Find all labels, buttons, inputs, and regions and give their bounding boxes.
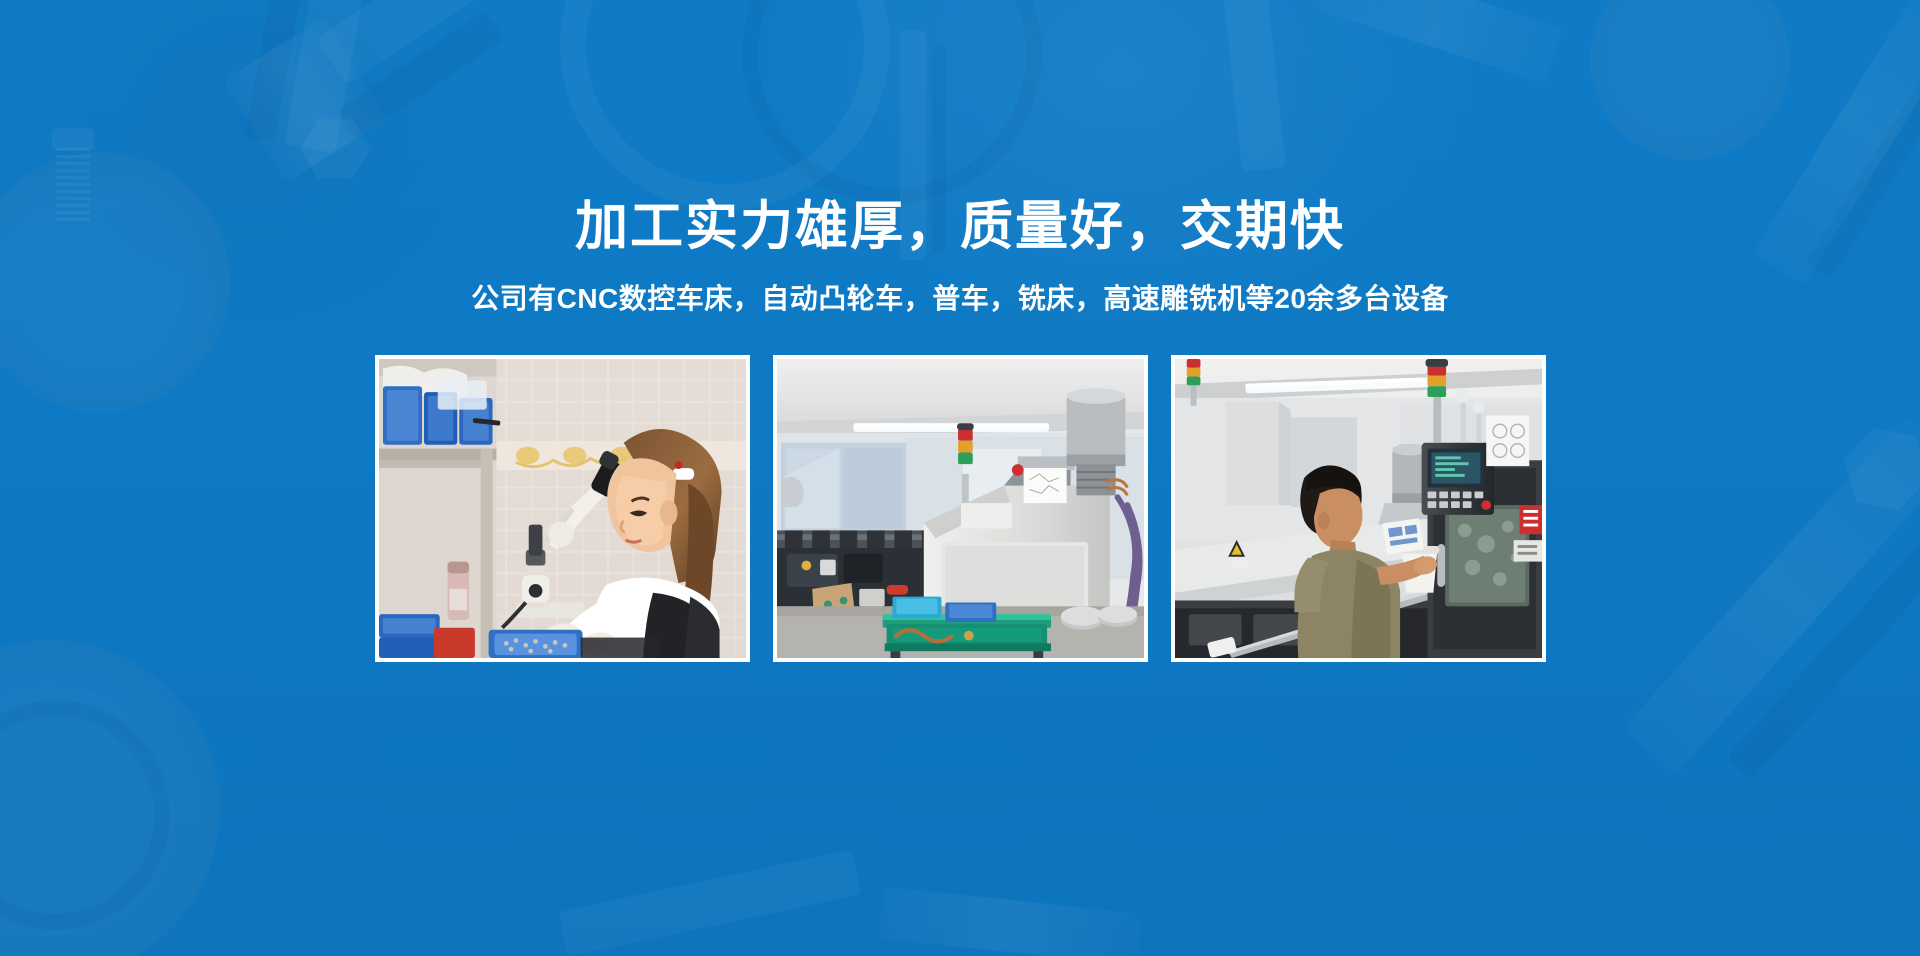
banner-subtitle: 公司有CNC数控车床，自动凸轮车，普车，铣床，高速雕铣机等20余多台设备 (0, 281, 1920, 317)
watermark-tube-upper (222, 17, 387, 182)
photo-3-artwork (1175, 359, 1542, 658)
promo-banner: 加工实力雄厚，质量好，交期快 公司有CNC数控车床，自动凸轮车，普车，铣床，高速… (0, 0, 1920, 956)
gallery-photo-machine-operator[interactable]: 机床操作 (1171, 355, 1546, 662)
watermark-tube-bottom-mid (878, 887, 1142, 956)
watermark-bar-bottom-mid (558, 849, 861, 956)
photo-gallery: 显微镜检验 (0, 355, 1920, 662)
gallery-photo-cnc-machine[interactable]: CNC数控加工中心 (773, 355, 1148, 662)
watermark-bar-right (1218, 0, 1286, 172)
watermark-ring-center-a (560, 0, 890, 210)
photo-2-artwork (777, 359, 1144, 658)
watermark-disc-bottom-left (0, 640, 220, 956)
watermark-disc-right (1590, 0, 1790, 160)
watermark-ring-center-b (742, 0, 1042, 204)
watermark-bar-top-right (284, 0, 368, 153)
banner-text-block: 加工实力雄厚，质量好，交期快 公司有CNC数控车床，自动凸轮车，普车，铣床，高速… (0, 196, 1920, 317)
watermark-bar-diagonal (316, 0, 538, 86)
watermark-ring-bottom-left (0, 700, 170, 930)
watermark-screw-head-left (52, 128, 94, 150)
photo-1-artwork (379, 359, 746, 658)
watermark-hex-nut-upper (300, 118, 370, 180)
watermark-bar-diagonal-2 (336, 11, 504, 140)
watermark-tube-right (1317, 0, 1563, 84)
banner-title: 加工实力雄厚，质量好，交期快 (0, 196, 1920, 259)
gallery-photo-microscope-inspection[interactable]: 显微镜检验 (375, 355, 750, 662)
watermark-bar-top-right-2 (245, 0, 301, 141)
